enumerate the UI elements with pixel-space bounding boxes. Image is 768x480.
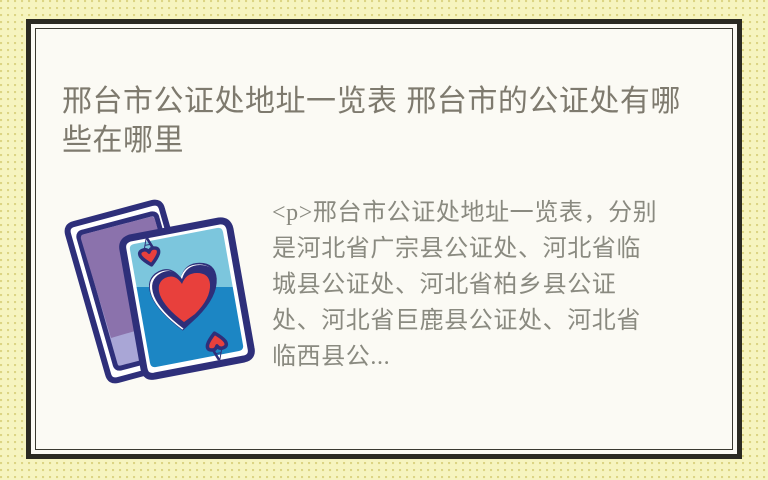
page-background: 邢台市公证处地址一览表 邢台市的公证处有哪些在哪里 — [0, 0, 768, 480]
page-title[interactable]: 邢台市公证处地址一览表 邢台市的公证处有哪些在哪里 — [62, 82, 702, 160]
article-thumbnail[interactable]: A A — [64, 197, 264, 412]
article-excerpt[interactable]: <p>邢台市公证处地址一览表，分别是河北省广宗县公证处、河北省临城县公证处、河北… — [272, 195, 662, 375]
article-frame: 邢台市公证处地址一览表 邢台市的公证处有哪些在哪里 — [26, 19, 742, 459]
playing-cards-icon: A A — [64, 197, 264, 412]
article-content-row: A A <p>邢台市公证处地址一览表，分别是河北省广宗县公证处、河北省临城县公证… — [36, 187, 732, 412]
front-card-ace-of-hearts: A A — [119, 217, 264, 382]
article-card: 邢台市公证处地址一览表 邢台市的公证处有哪些在哪里 — [35, 28, 733, 450]
